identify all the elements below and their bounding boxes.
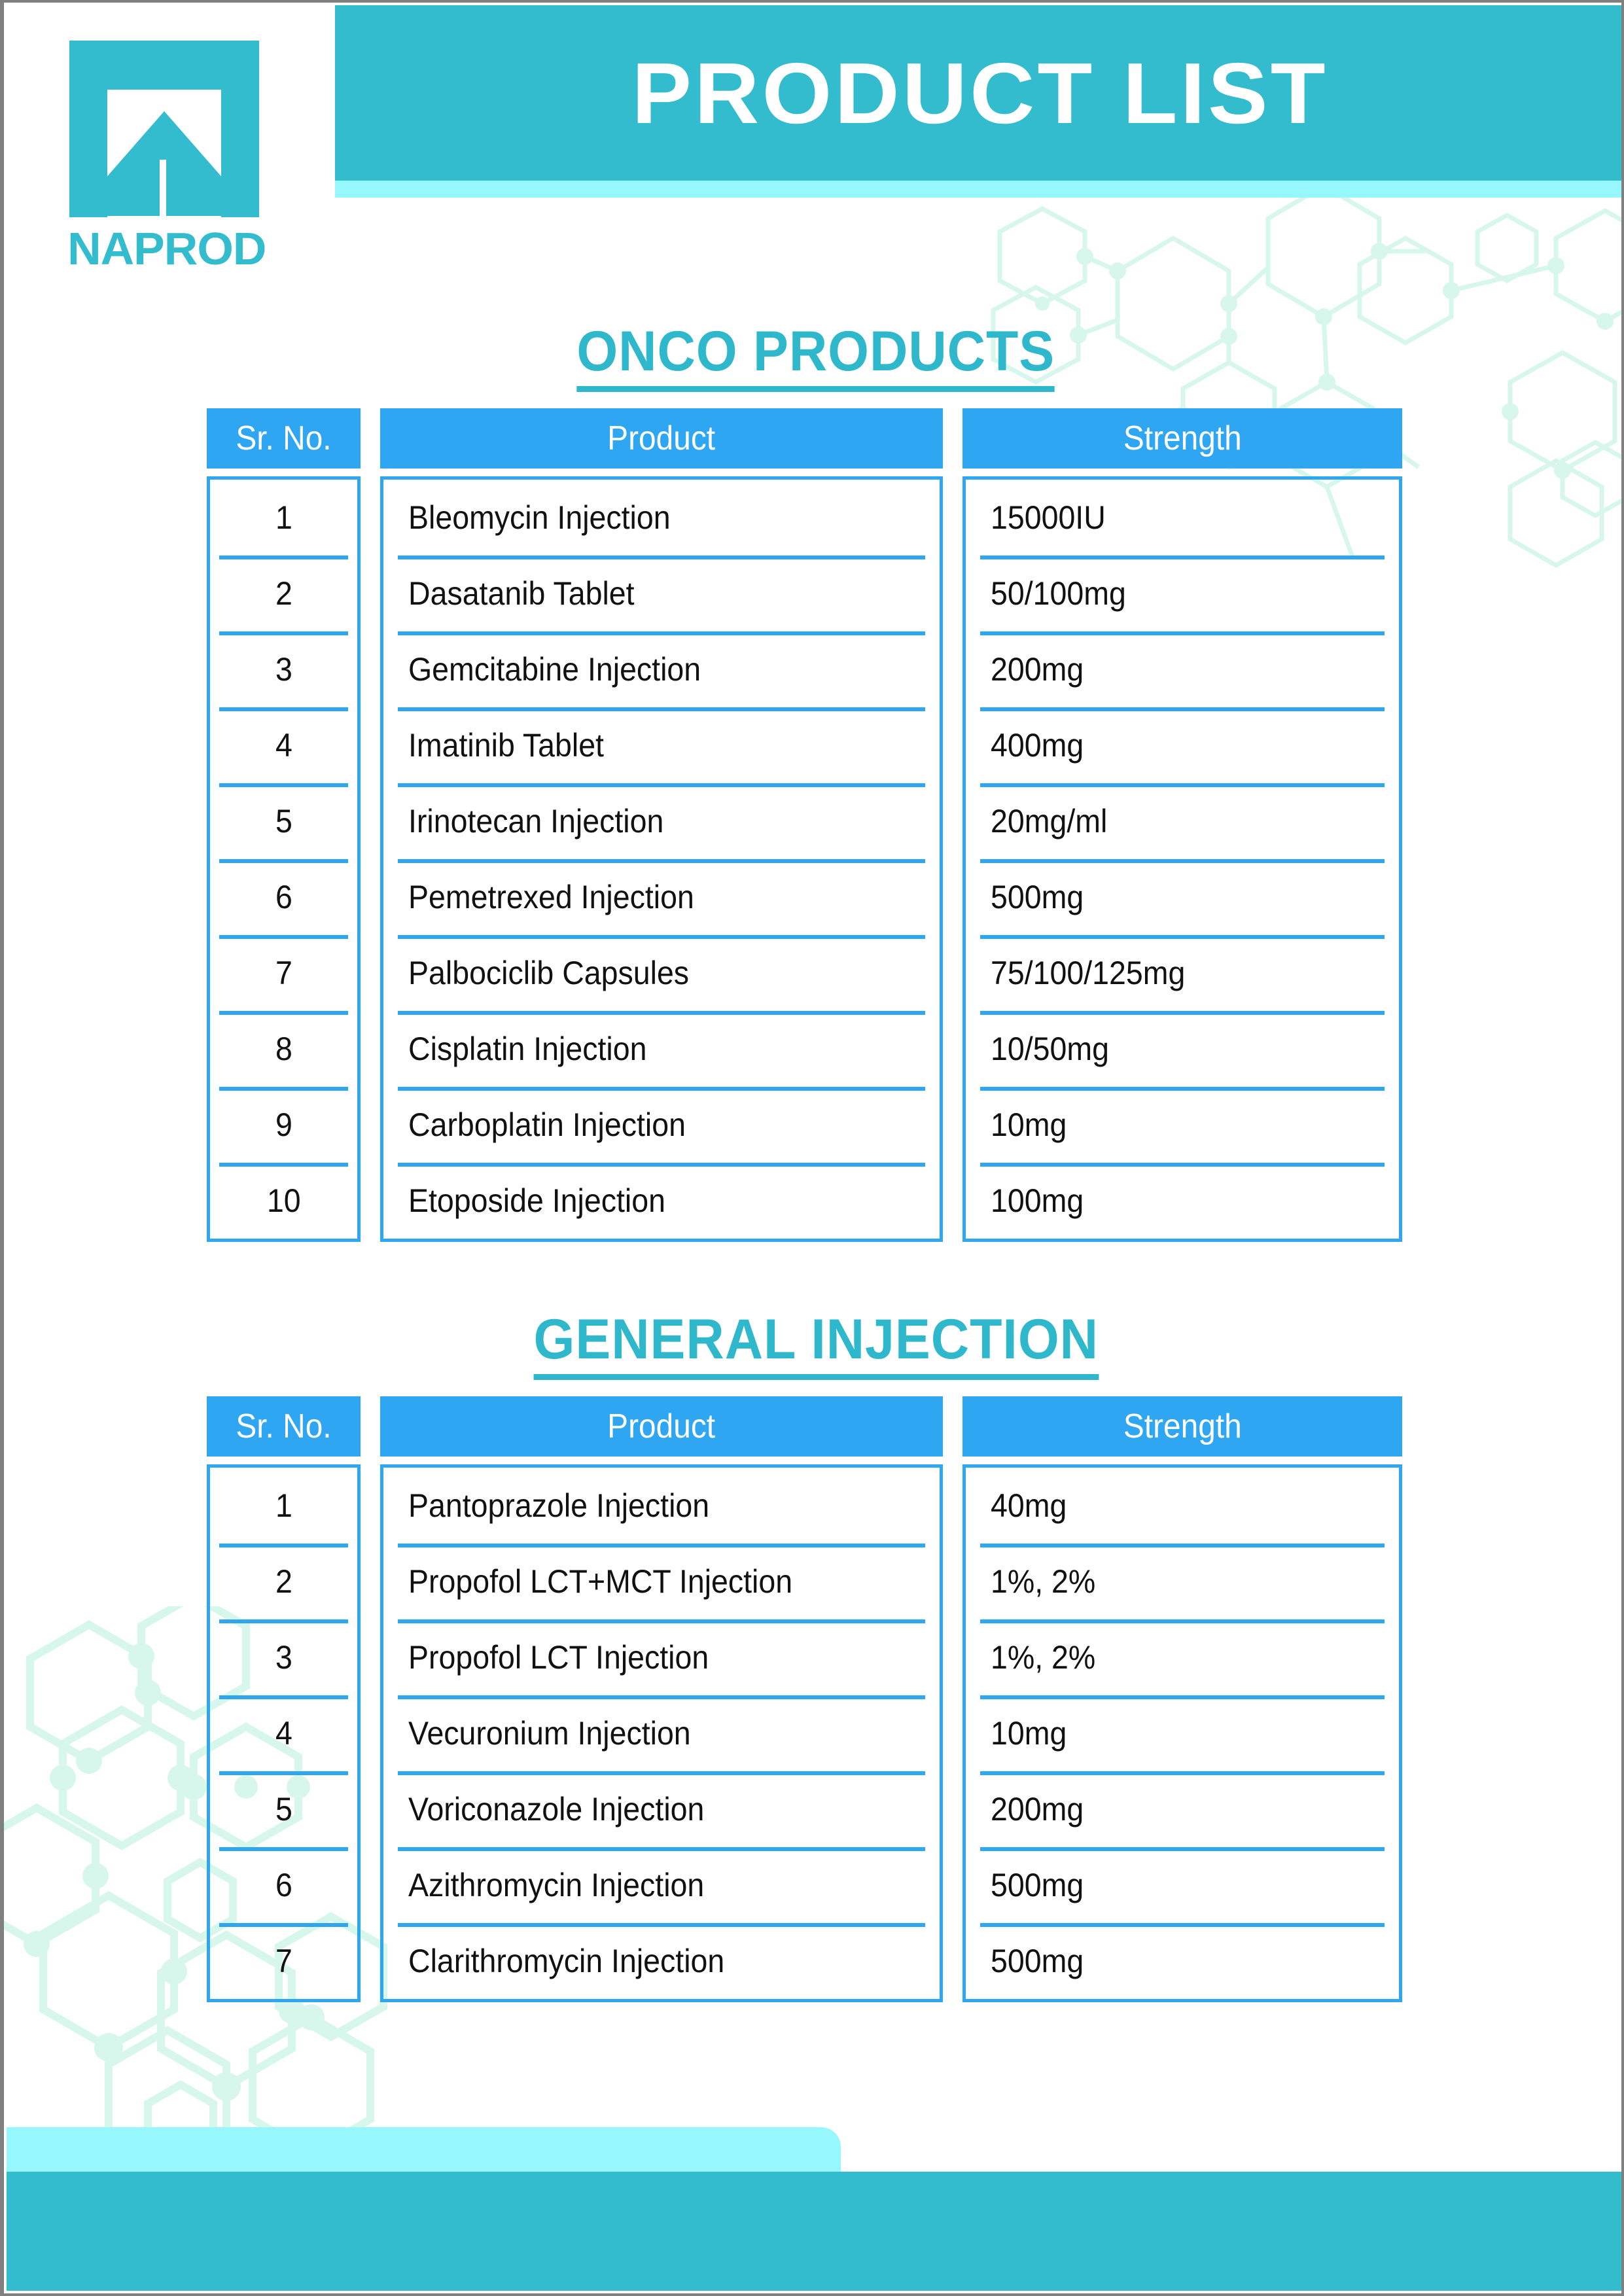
table-body: 1 2 3 4 5 6 7 Pantoprazole Injection Pro… <box>207 1464 1419 2002</box>
table-row: 5 <box>210 783 357 859</box>
column-product: Pantoprazole Injection Propofol LCT+MCT … <box>380 1464 943 2002</box>
table-header-row: Sr. No. Product Strength <box>207 1396 1419 1457</box>
product-list-page: PRODUCT LIST NAPROD ONCO PRODUCTS Sr. No… <box>0 0 1624 2296</box>
section-title-onco: ONCO PRODUCTS <box>577 323 1055 392</box>
table-row: Clarithromycin Injection <box>383 1923 940 1999</box>
general-injection-table: Sr. No. Product Strength 1 2 3 4 5 6 7 <box>207 1396 1419 2002</box>
page-title: PRODUCT LIST <box>632 44 1328 143</box>
table-row: 10 <box>210 1163 357 1239</box>
table-row: Etoposide Injection <box>383 1163 940 1239</box>
column-header-strength: Strength <box>962 408 1402 468</box>
table-row: 4 <box>210 1695 357 1771</box>
table-row: Irinotecan Injection <box>383 783 940 859</box>
column-header-product: Product <box>380 408 943 468</box>
table-row: Dasatanib Tablet <box>383 556 940 631</box>
table-row: Azithromycin Injection <box>383 1847 940 1923</box>
table-row: Pemetrexed Injection <box>383 859 940 935</box>
table-row: Voriconazole Injection <box>383 1771 940 1847</box>
table-row: 40mg <box>966 1468 1399 1544</box>
page-header-band: PRODUCT LIST <box>335 5 1624 181</box>
table-row: 6 <box>210 859 357 935</box>
naprod-logo-icon <box>69 41 259 217</box>
column-header-sr-no: Sr. No. <box>207 1396 361 1457</box>
table-row: 200mg <box>966 1771 1399 1847</box>
table-row: 20mg/ml <box>966 783 1399 859</box>
table-row: 1 <box>210 480 357 556</box>
table-row: Palbociclib Capsules <box>383 935 940 1011</box>
table-row: 2 <box>210 1544 357 1619</box>
table-row: 7 <box>210 1923 357 1999</box>
column-strength: 15000IU 50/100mg 200mg 400mg 20mg/ml 500… <box>962 476 1402 1242</box>
table-row: 8 <box>210 1011 357 1087</box>
footer-band <box>7 2172 1624 2291</box>
column-product: Bleomycin Injection Dasatanib Tablet Gem… <box>380 476 943 1242</box>
table-row: Bleomycin Injection <box>383 480 940 556</box>
table-row: 10/50mg <box>966 1011 1399 1087</box>
column-header-product: Product <box>380 1396 943 1457</box>
table-row: 200mg <box>966 631 1399 707</box>
table-row: 1%, 2% <box>966 1544 1399 1619</box>
table-row: 15000IU <box>966 480 1399 556</box>
table-row: 500mg <box>966 1923 1399 1999</box>
table-row: 5 <box>210 1771 357 1847</box>
table-row: 400mg <box>966 707 1399 783</box>
column-header-sr-no: Sr. No. <box>207 408 361 468</box>
company-name: NAPROD <box>67 222 261 275</box>
table-row: 3 <box>210 631 357 707</box>
table-row: 50/100mg <box>966 556 1399 631</box>
column-sr-no: 1 2 3 4 5 6 7 <box>207 1464 361 2002</box>
header-accent-strip <box>335 181 1624 198</box>
table-row: 10mg <box>966 1087 1399 1163</box>
table-row: 500mg <box>966 859 1399 935</box>
table-row: 9 <box>210 1087 357 1163</box>
table-row: 2 <box>210 556 357 631</box>
company-logo: NAPROD <box>69 41 259 276</box>
table-row: 7 <box>210 935 357 1011</box>
table-row: Pantoprazole Injection <box>383 1468 940 1544</box>
section-title-general: GENERAL INJECTION <box>533 1311 1098 1380</box>
table-body: 1 2 3 4 5 6 7 8 9 10 Bleomycin Injection… <box>207 476 1419 1242</box>
table-row: 100mg <box>966 1163 1399 1239</box>
table-row: Gemcitabine Injection <box>383 631 940 707</box>
table-header-row: Sr. No. Product Strength <box>207 408 1419 468</box>
onco-products-table: Sr. No. Product Strength 1 2 3 4 5 6 7 <box>207 408 1419 1242</box>
column-header-strength: Strength <box>962 1396 1402 1457</box>
table-row: 75/100/125mg <box>966 935 1399 1011</box>
table-row: Cisplatin Injection <box>383 1011 940 1087</box>
table-row: Propofol LCT+MCT Injection <box>383 1544 940 1619</box>
table-row: 10mg <box>966 1695 1399 1771</box>
column-strength: 40mg 1%, 2% 1%, 2% 10mg 200mg 500mg 500m… <box>962 1464 1402 2002</box>
table-row: 6 <box>210 1847 357 1923</box>
table-row: Carboplatin Injection <box>383 1087 940 1163</box>
table-row: 500mg <box>966 1847 1399 1923</box>
column-sr-no: 1 2 3 4 5 6 7 8 9 10 <box>207 476 361 1242</box>
table-row: Vecuronium Injection <box>383 1695 940 1771</box>
table-row: 1 <box>210 1468 357 1544</box>
footer-accent-shape <box>7 2127 841 2174</box>
table-row: 3 <box>210 1619 357 1695</box>
table-row: 4 <box>210 707 357 783</box>
table-row: 1%, 2% <box>966 1619 1399 1695</box>
table-row: Imatinib Tablet <box>383 707 940 783</box>
table-row: Propofol LCT Injection <box>383 1619 940 1695</box>
